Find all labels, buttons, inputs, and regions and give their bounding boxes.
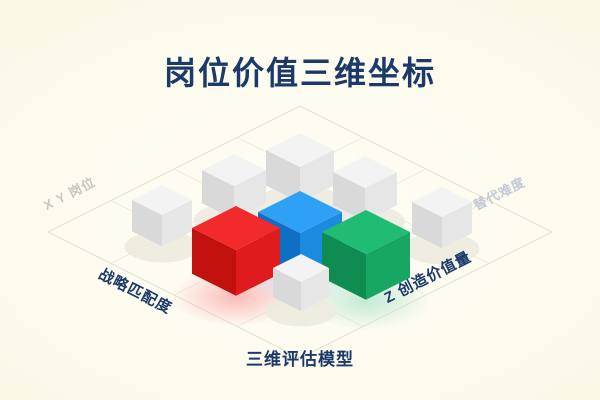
- isometric-scene: [0, 0, 600, 400]
- scene-svg: [0, 0, 600, 400]
- illustration-canvas: 岗位价值三维坐标 X Y 岗位 替代难度 战略匹配度 Z 创造价值量 三维评估模…: [0, 0, 600, 400]
- page-caption: 三维评估模型: [0, 345, 600, 370]
